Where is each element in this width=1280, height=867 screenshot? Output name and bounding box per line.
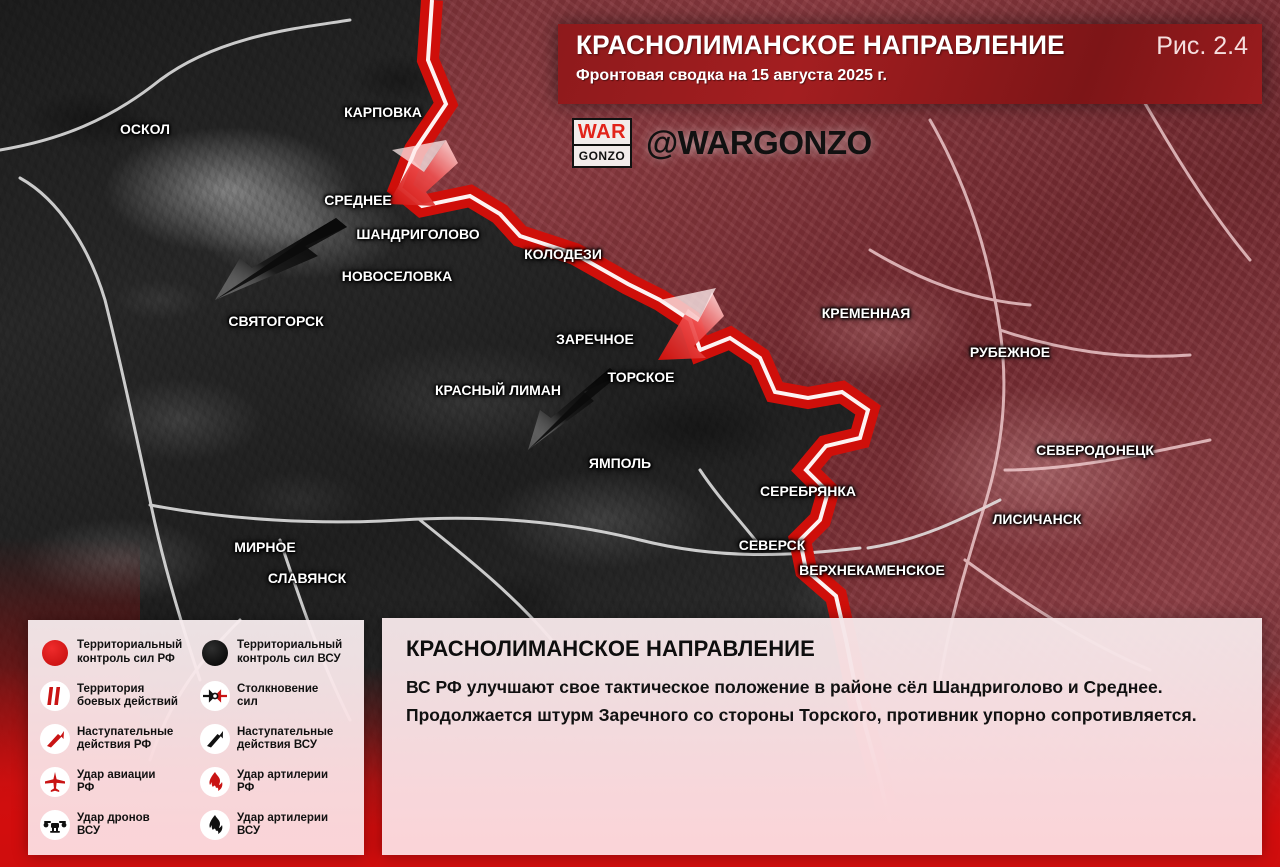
map-label-2: СРЕДНЕЕ	[324, 192, 392, 208]
summary-panel: КРАСНОЛИМАНСКОЕ НАПРАВЛЕНИЕ ВС РФ улучша…	[382, 618, 1262, 855]
map-label-0: ОСКОЛ	[120, 121, 170, 137]
map-label-1: КАРПОВКА	[344, 104, 422, 120]
legend-item-label: Территориальныйконтроль сил ВСУ	[237, 639, 342, 665]
wargonzo-handle[interactable]: @WARGONZO	[646, 124, 872, 162]
map-label-3: ШАНДРИГОЛОВО	[356, 226, 479, 242]
map-label-12: РУБЕЖНОЕ	[970, 344, 1050, 360]
map-label-14: ЛИСИЧАНСК	[993, 511, 1082, 527]
legend-item: Наступательныедействия ВСУ	[200, 717, 354, 760]
logo-war-text: WAR	[574, 120, 630, 144]
legend-item: Территориальныйконтроль сил ВСУ	[200, 631, 354, 674]
legend-panel: Территориальныйконтроль сил РФТерриториа…	[28, 620, 364, 855]
red-hatched-bars-icon	[40, 681, 70, 711]
legend-item: Столкновениесил	[200, 674, 354, 717]
wargonzo-logo-icon[interactable]: WAR GONZO	[572, 118, 632, 168]
black-offensive-arrow-icon	[200, 724, 230, 754]
legend-item-label: Территориябоевых действий	[77, 683, 178, 709]
clash-of-forces-arrows-icon	[200, 681, 230, 711]
map-label-16: СЕВЕРСК	[739, 537, 806, 553]
map-label-7: ЗАРЕЧНОЕ	[556, 331, 634, 347]
red-airplane-icon	[40, 767, 70, 797]
legend-item: Удар авиацииРФ	[40, 761, 194, 804]
map-label-19: СЛАВЯНСК	[268, 570, 346, 586]
banner-subtitle: Фронтовая сводка на 15 августа 2025 г.	[576, 67, 1248, 85]
black-drone-icon	[40, 810, 70, 840]
map-label-11: КРЕМЕННАЯ	[822, 305, 911, 321]
summary-body: ВС РФ улучшают свое тактическое положени…	[406, 674, 1238, 729]
legend-item: Удар артилерииВСУ	[200, 804, 354, 847]
legend-item-label: Наступательныедействия РФ	[77, 726, 173, 752]
legend-item-label: Наступательныедействия ВСУ	[237, 726, 333, 752]
red-offensive-arrow-icon	[40, 724, 70, 754]
brand-block[interactable]: WAR GONZO @WARGONZO	[572, 118, 872, 168]
map-label-8: ТОРСКОЕ	[608, 369, 675, 385]
black-artillery-burst-icon	[200, 810, 230, 840]
figure-number: Рис. 2.4	[1156, 32, 1248, 61]
map-label-6: КОЛОДЕЗИ	[524, 246, 602, 262]
legend-item-label: Удар артилерииВСУ	[237, 812, 328, 838]
map-label-15: СЕРЕБРЯНКА	[760, 483, 856, 499]
map-label-17: ВЕРХНЕКАМЕНСКОЕ	[799, 562, 945, 578]
legend-item-label: Столкновениесил	[237, 683, 318, 709]
legend-item: Территориябоевых действий	[40, 674, 194, 717]
legend-item: Наступательныедействия РФ	[40, 717, 194, 760]
map-label-5: СВЯТОГОРСК	[228, 313, 323, 329]
map-label-4: НОВОСЕЛОВКА	[342, 268, 453, 284]
map-label-13: СЕВЕРОДОНЕЦК	[1036, 442, 1154, 458]
map-infographic: ОСКОЛКАРПОВКАСРЕДНЕЕШАНДРИГОЛОВОНОВОСЕЛО…	[0, 0, 1280, 867]
legend-item: Территориальныйконтроль сил РФ	[40, 631, 194, 674]
summary-title: КРАСНОЛИМАНСКОЕ НАПРАВЛЕНИЕ	[406, 636, 1238, 662]
black-filled-circle-icon	[200, 638, 230, 668]
red-filled-circle-icon	[40, 638, 70, 668]
logo-gonzo-text: GONZO	[574, 146, 630, 166]
map-label-18: МИРНОЕ	[234, 539, 295, 555]
map-label-10: ЯМПОЛЬ	[589, 455, 651, 471]
legend-item-label: Удар авиацииРФ	[77, 769, 155, 795]
header-banner: КРАСНОЛИМАНСКОЕ НАПРАВЛЕНИЕ Рис. 2.4 Фро…	[558, 24, 1262, 104]
legend-item: Удар артилерииРФ	[200, 761, 354, 804]
legend-item-label: Территориальныйконтроль сил РФ	[77, 639, 182, 665]
legend-item: Удар дроновВСУ	[40, 804, 194, 847]
map-label-9: КРАСНЫЙ ЛИМАН	[435, 382, 561, 398]
red-artillery-burst-icon	[200, 767, 230, 797]
legend-item-label: Удар дроновВСУ	[77, 812, 150, 838]
page-title: КРАСНОЛИМАНСКОЕ НАПРАВЛЕНИЕ	[576, 30, 1065, 61]
legend-item-label: Удар артилерииРФ	[237, 769, 328, 795]
